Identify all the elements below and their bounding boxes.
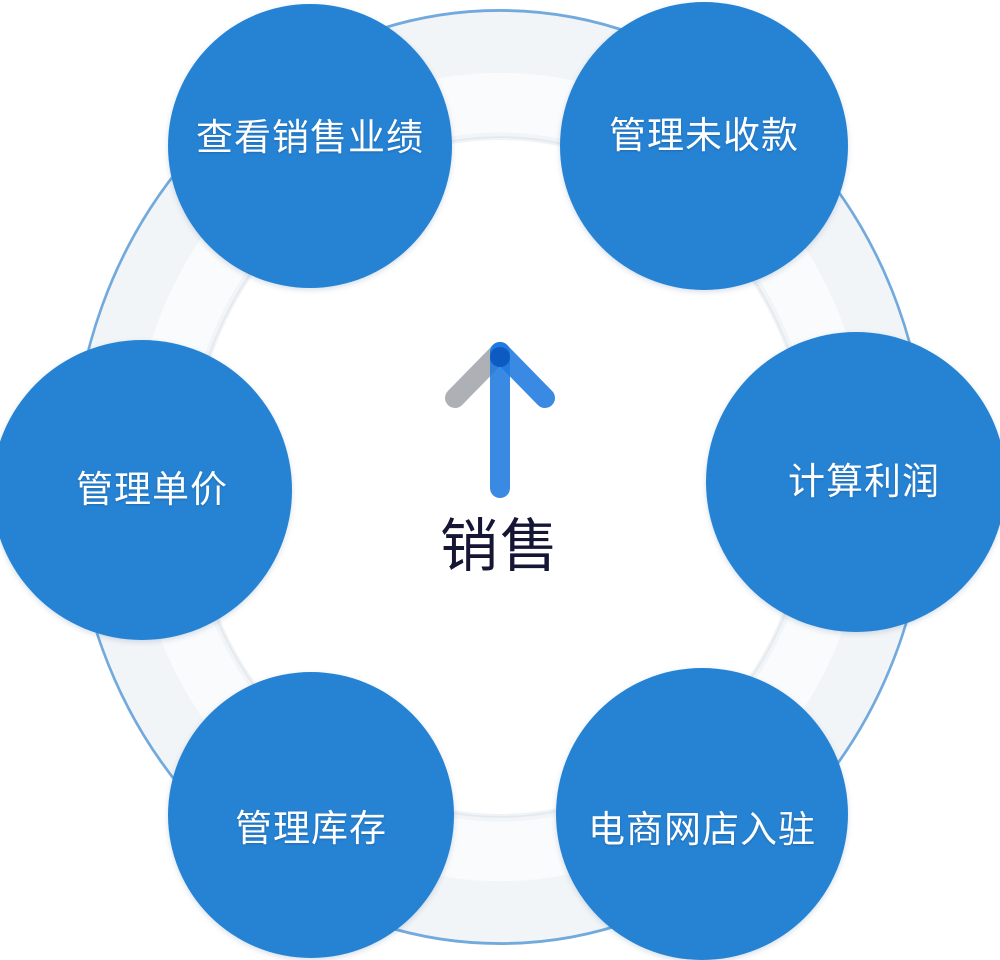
up-arrow-growth-icon xyxy=(435,330,565,510)
arrow-tip-joint xyxy=(490,347,510,367)
node-label: 计算利润 xyxy=(788,462,940,503)
node-label: 管理单价 xyxy=(76,470,228,511)
node-ecommerce-store-onboarding[interactable]: 电商网店入驻 xyxy=(556,668,848,960)
node-label: 管理库存 xyxy=(235,809,387,850)
node-label: 管理未收款 xyxy=(609,116,799,157)
node-calculate-profit[interactable]: 计算利润 xyxy=(706,332,1000,632)
center-label: 销售 xyxy=(440,518,560,576)
node-manage-unit-price[interactable]: 管理单价 xyxy=(0,340,292,640)
center-hub: 销售 xyxy=(390,330,610,620)
node-label: 电商网店入驻 xyxy=(588,810,816,851)
node-manage-inventory[interactable]: 管理库存 xyxy=(168,672,454,958)
sales-hub-diagram: 销售 查看销售业绩 管理未收款 计算利润 电商网店入驻 管理库存 管理单价 xyxy=(0,0,1000,954)
node-manage-receivables[interactable]: 管理未收款 xyxy=(560,2,848,290)
node-label: 查看销售业绩 xyxy=(196,118,424,159)
node-view-sales-performance[interactable]: 查看销售业绩 xyxy=(168,4,452,288)
